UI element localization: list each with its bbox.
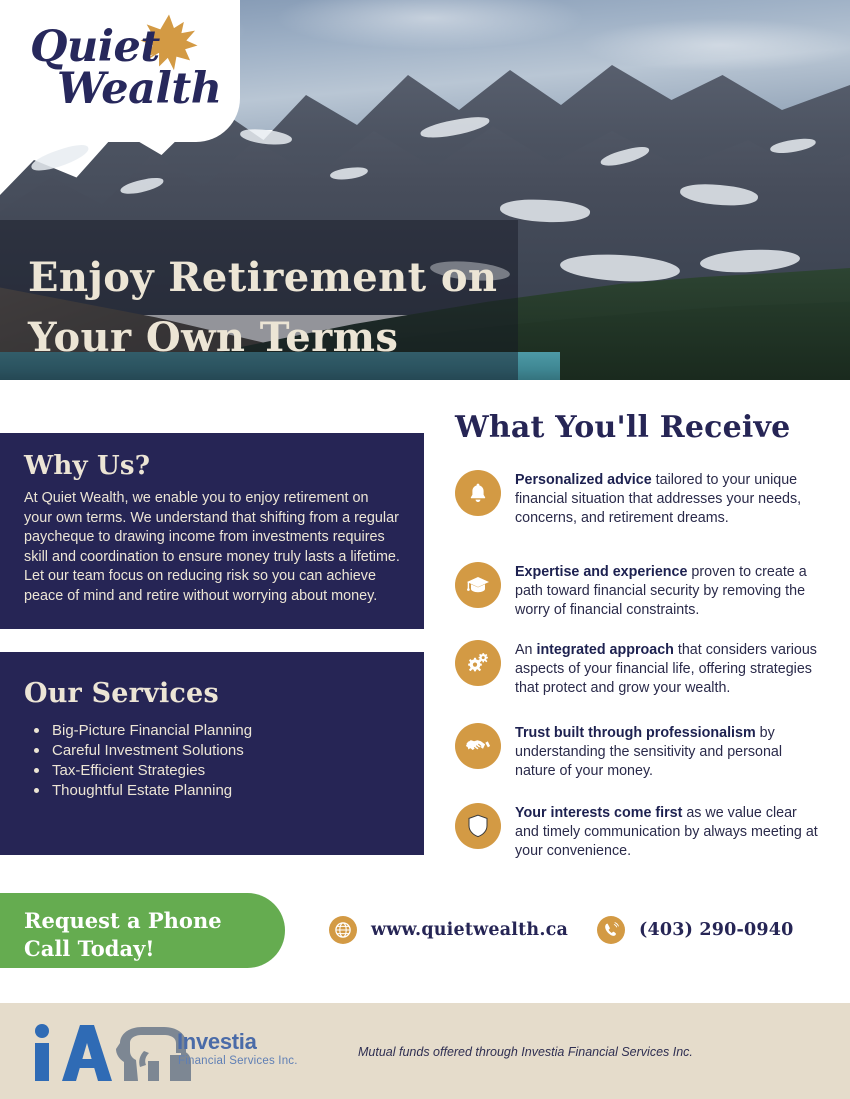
benefit-item: An integrated approach that considers va… — [455, 640, 823, 699]
benefit-item: Trust built through professionalism by u… — [455, 723, 823, 782]
handshake-icon — [455, 723, 501, 769]
benefit-text: An integrated approach that considers va… — [515, 640, 823, 699]
benefit-text: Expertise and experience proven to creat… — [515, 562, 823, 621]
gears-icon — [455, 640, 501, 686]
hero-title-line1: Enjoy Retirement on — [28, 248, 508, 308]
why-us-panel: Why Us? At Quiet Wealth, we enable you t… — [0, 433, 424, 629]
benefit-lead: integrated approach — [536, 642, 673, 658]
gears-glyph — [465, 650, 491, 676]
list-item: Big-Picture Financial Planning — [52, 721, 424, 740]
list-item: Careful Investment Solutions — [52, 741, 424, 760]
benefit-item: Personalized advice tailored to your uni… — [455, 470, 823, 529]
logo-text-wealth: Wealth — [57, 64, 221, 114]
handshake-glyph — [464, 732, 492, 760]
phone-label: (403) 290-0940 — [639, 920, 793, 940]
globe-icon — [329, 916, 357, 944]
flyer-page: Enjoy Retirement on Your Own Terms Quiet… — [0, 0, 850, 1099]
why-us-heading: Why Us? — [0, 433, 424, 481]
receive-heading: What You'll Receive — [455, 410, 790, 445]
services-list: Big-Picture Financial Planning Careful I… — [0, 721, 424, 800]
graduation-cap-icon — [455, 562, 501, 608]
partner-subtitle: Financial Services Inc. — [178, 1055, 298, 1067]
globe-glyph — [334, 921, 352, 939]
benefit-lead: Personalized advice — [515, 472, 652, 488]
benefit-prefix: An — [515, 642, 536, 658]
benefit-text: Personalized advice tailored to your uni… — [515, 470, 823, 529]
bell-icon — [455, 470, 501, 516]
list-item: Tax-Efficient Strategies — [52, 761, 424, 780]
cta-line1: Request a Phone — [24, 907, 264, 935]
benefit-item: Your interests come first as we value cl… — [455, 803, 823, 862]
benefit-lead: Your interests come first — [515, 805, 682, 821]
graduation-cap-glyph — [465, 572, 491, 598]
website-label: www.quietwealth.ca — [371, 920, 568, 940]
benefit-lead: Expertise and experience — [515, 564, 687, 580]
bell-glyph — [466, 481, 490, 505]
logo-card: Quiet Wealth — [0, 0, 240, 142]
footer-disclaimer: Mutual funds offered through Investia Fi… — [358, 1045, 693, 1059]
phone-icon — [597, 916, 625, 944]
shield-icon — [455, 803, 501, 849]
our-services-heading: Our Services — [0, 652, 424, 709]
benefit-lead: Trust built through professionalism — [515, 725, 756, 741]
phone-glyph — [602, 921, 620, 939]
benefit-text: Trust built through professionalism by u… — [515, 723, 823, 782]
website-contact[interactable]: www.quietwealth.ca — [329, 916, 568, 944]
snow-patch — [29, 141, 91, 175]
benefit-item: Expertise and experience proven to creat… — [455, 562, 823, 621]
shield-glyph — [467, 813, 489, 839]
why-us-body: At Quiet Wealth, we enable you to enjoy … — [24, 489, 400, 606]
cta-line2: Call Today! — [24, 935, 264, 963]
request-call-label: Request a Phone Call Today! — [24, 907, 264, 963]
phone-contact[interactable]: (403) 290-0940 — [597, 916, 793, 944]
hero-title: Enjoy Retirement on Your Own Terms — [28, 248, 508, 368]
our-services-panel: Our Services Big-Picture Financial Plann… — [0, 652, 424, 855]
partner-name: Investia — [177, 1029, 257, 1055]
request-call-button[interactable]: Request a Phone Call Today! — [0, 893, 285, 968]
benefit-text: Your interests come first as we value cl… — [515, 803, 823, 862]
hero-title-line2: Your Own Terms — [28, 308, 508, 368]
list-item: Thoughtful Estate Planning — [52, 781, 424, 800]
